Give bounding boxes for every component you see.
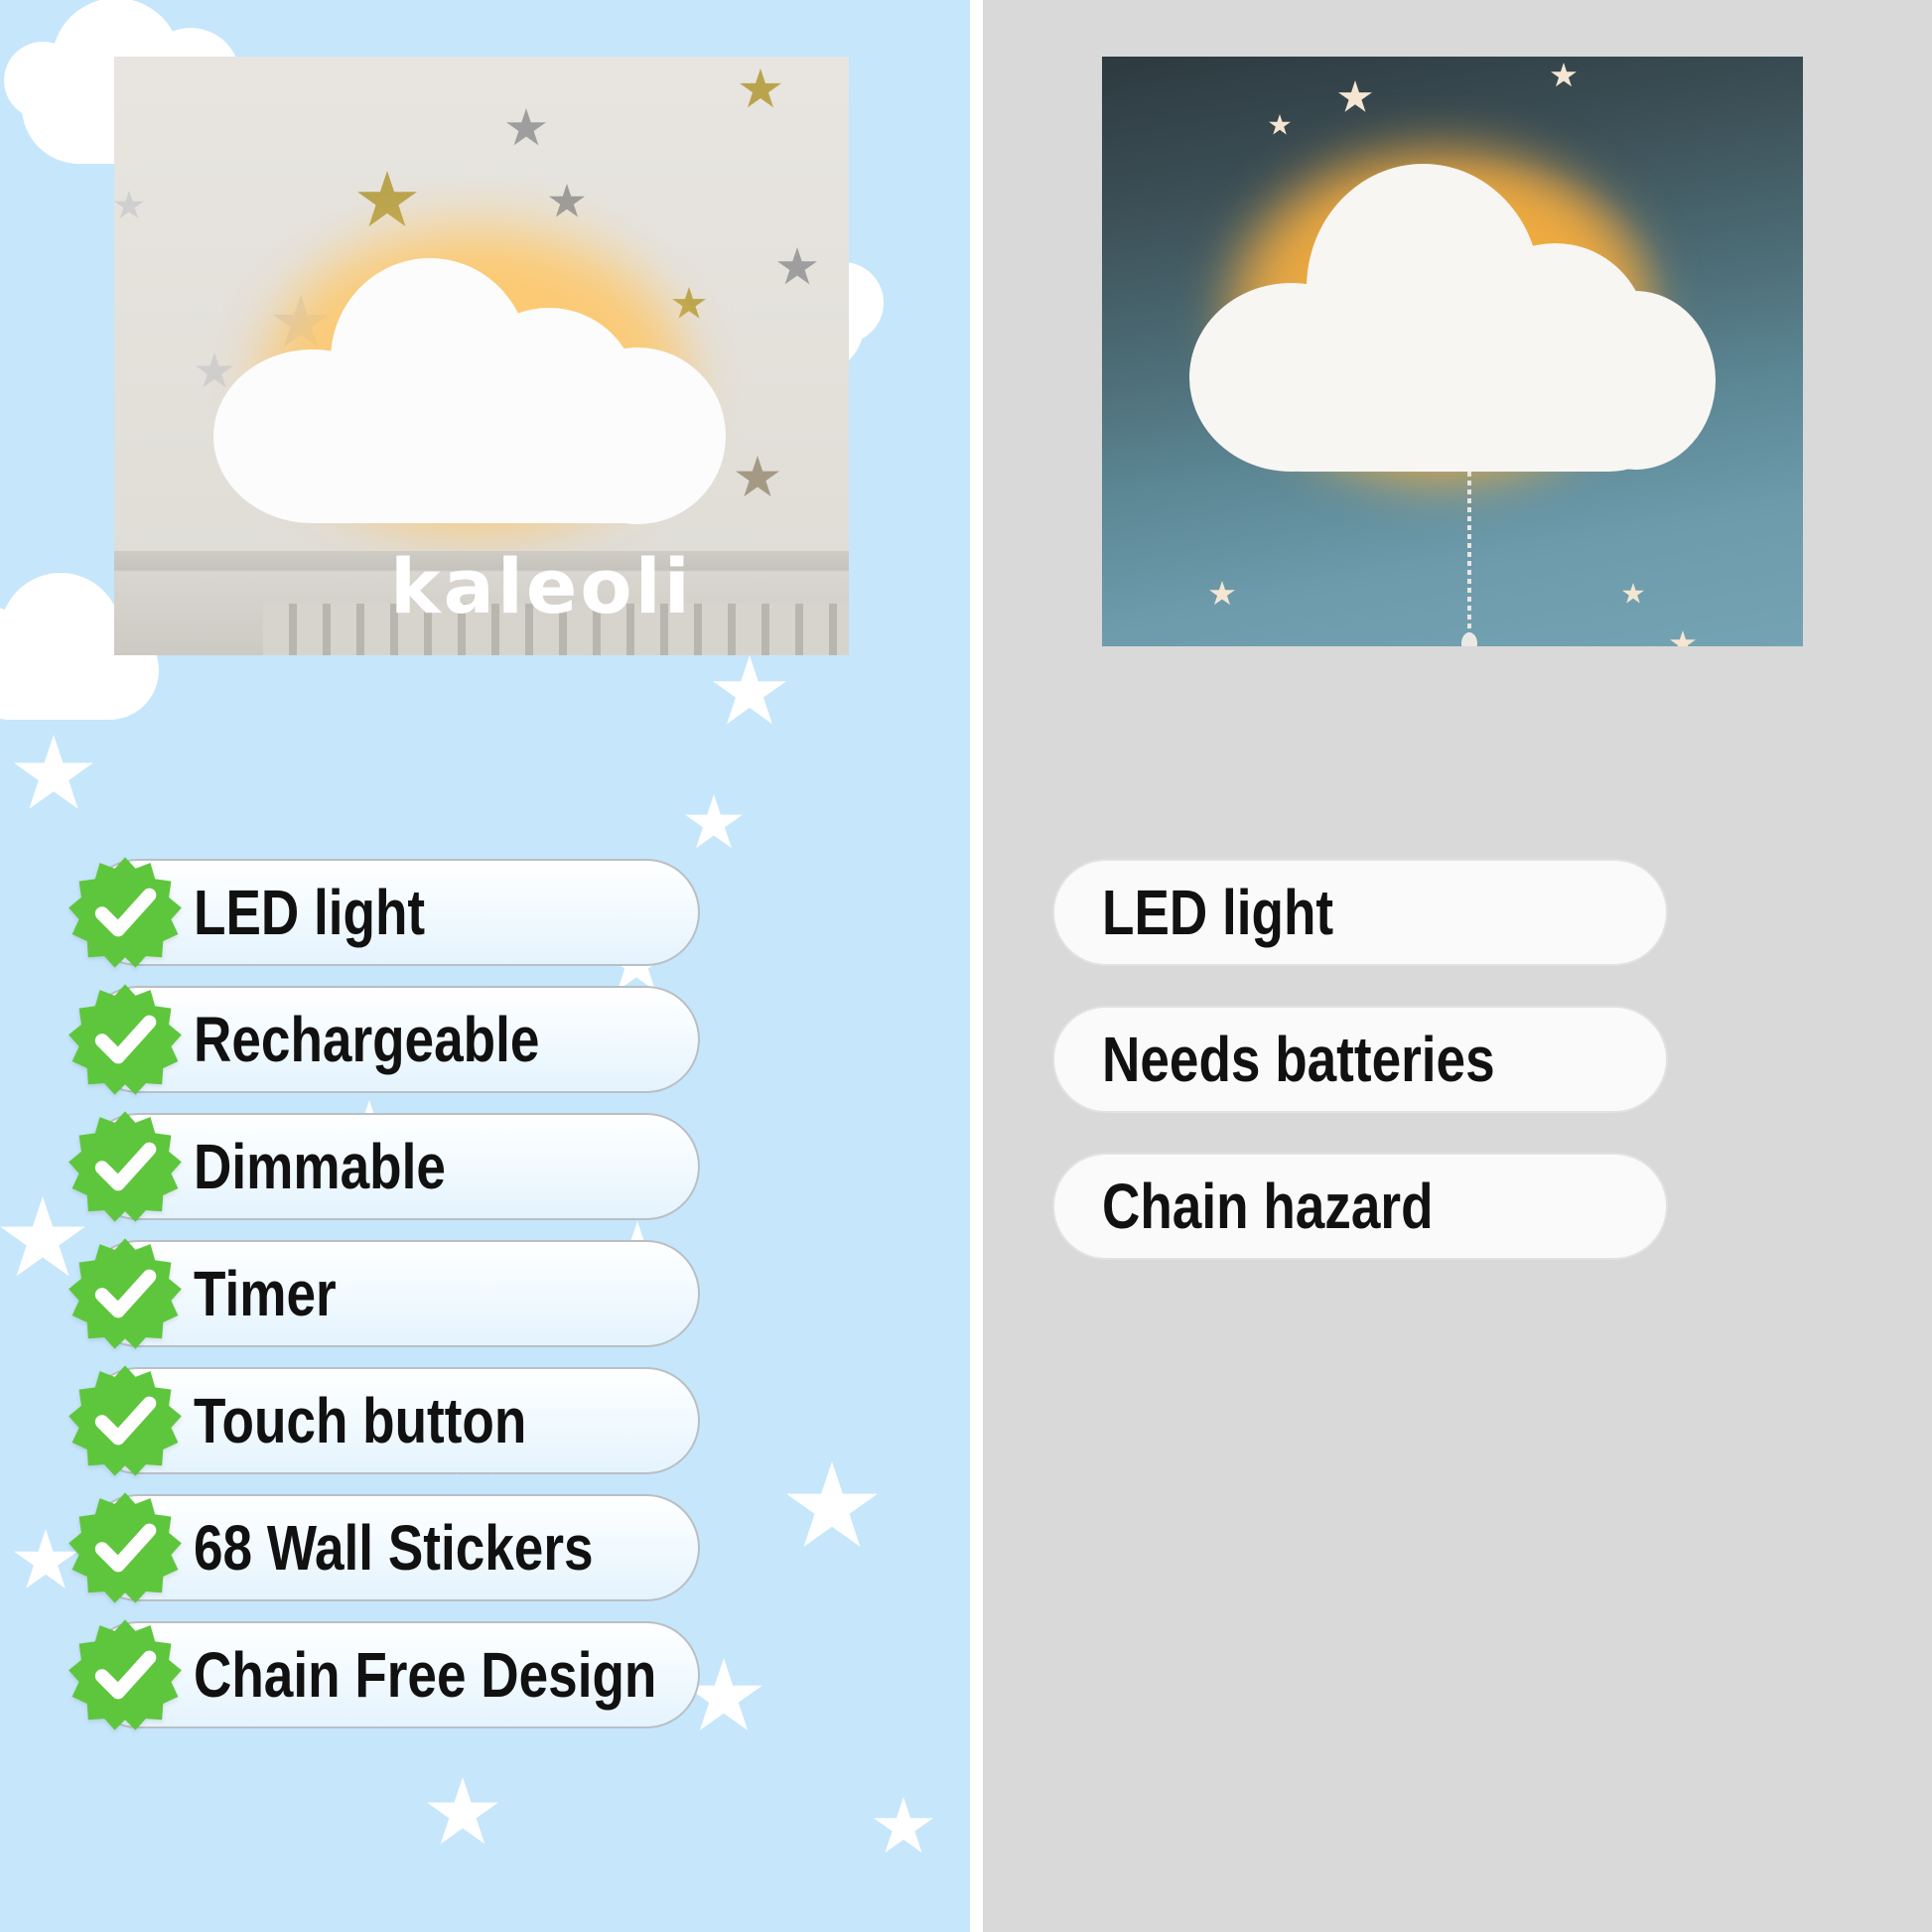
wall-sticker-star <box>549 184 585 219</box>
green-check-badge-icon <box>68 1109 183 1224</box>
green-check-badge-icon <box>68 1236 183 1351</box>
cloud-lamp-fixture <box>1189 134 1716 482</box>
drawback-pill[interactable]: Needs batteries <box>1052 1006 1668 1113</box>
feature-label: Touch button <box>194 1384 526 1457</box>
pull-chain <box>1467 472 1471 638</box>
decor-star <box>427 1777 498 1849</box>
wall-sticker-star <box>506 108 546 148</box>
decor-star <box>786 1461 878 1553</box>
feature-label: Timer <box>194 1257 337 1330</box>
decor-star <box>685 794 743 852</box>
pull-chain-knob <box>1461 632 1477 646</box>
cloud-lamp-fixture <box>213 230 730 528</box>
feature-label: Dimmable <box>194 1130 446 1203</box>
left-panel-kaleoli: kaleoli LED light Rechargeable Dimmable … <box>0 0 970 1932</box>
green-check-badge-icon <box>68 1363 183 1478</box>
green-check-badge-icon <box>68 1490 183 1605</box>
comparison-infographic: kaleoli LED light Rechargeable Dimmable … <box>0 0 1932 1932</box>
decor-star <box>14 735 93 814</box>
wall-sticker-star <box>777 247 817 287</box>
feature-label: Rechargeable <box>194 1003 539 1076</box>
green-check-badge-icon <box>68 855 183 970</box>
drawback-pill[interactable]: LED light <box>1052 859 1668 966</box>
wall-sticker-star <box>1209 581 1235 607</box>
wall-sticker-star <box>740 69 781 110</box>
drawback-pill[interactable]: Chain hazard <box>1052 1153 1668 1260</box>
wall-sticker-star <box>1269 114 1291 136</box>
feature-label: LED light <box>194 876 425 949</box>
feature-label: 68 Wall Stickers <box>194 1511 594 1585</box>
wall-sticker-star <box>1551 63 1577 88</box>
product-photo-kaleoli: kaleoli <box>114 57 849 655</box>
wall-sticker-star <box>736 456 779 499</box>
product-photo-others: others <box>1102 57 1803 646</box>
decor-star <box>713 655 786 729</box>
wall-sticker-star <box>1670 630 1696 646</box>
drawback-label: Chain hazard <box>1102 1170 1434 1243</box>
feature-label: Chain Free Design <box>194 1638 656 1712</box>
wall-sticker-star <box>357 171 417 230</box>
green-check-badge-icon <box>68 1617 183 1732</box>
drawback-label: Needs batteries <box>1102 1023 1495 1096</box>
wall-sticker-star <box>114 191 144 220</box>
green-check-badge-icon <box>68 982 183 1097</box>
drawback-label: LED light <box>1102 876 1333 949</box>
decor-star <box>874 1797 933 1857</box>
brand-watermark-kaleoli: kaleoli <box>390 549 693 624</box>
wall-sticker-star <box>1338 80 1372 114</box>
wall-sticker-star <box>1622 583 1644 605</box>
